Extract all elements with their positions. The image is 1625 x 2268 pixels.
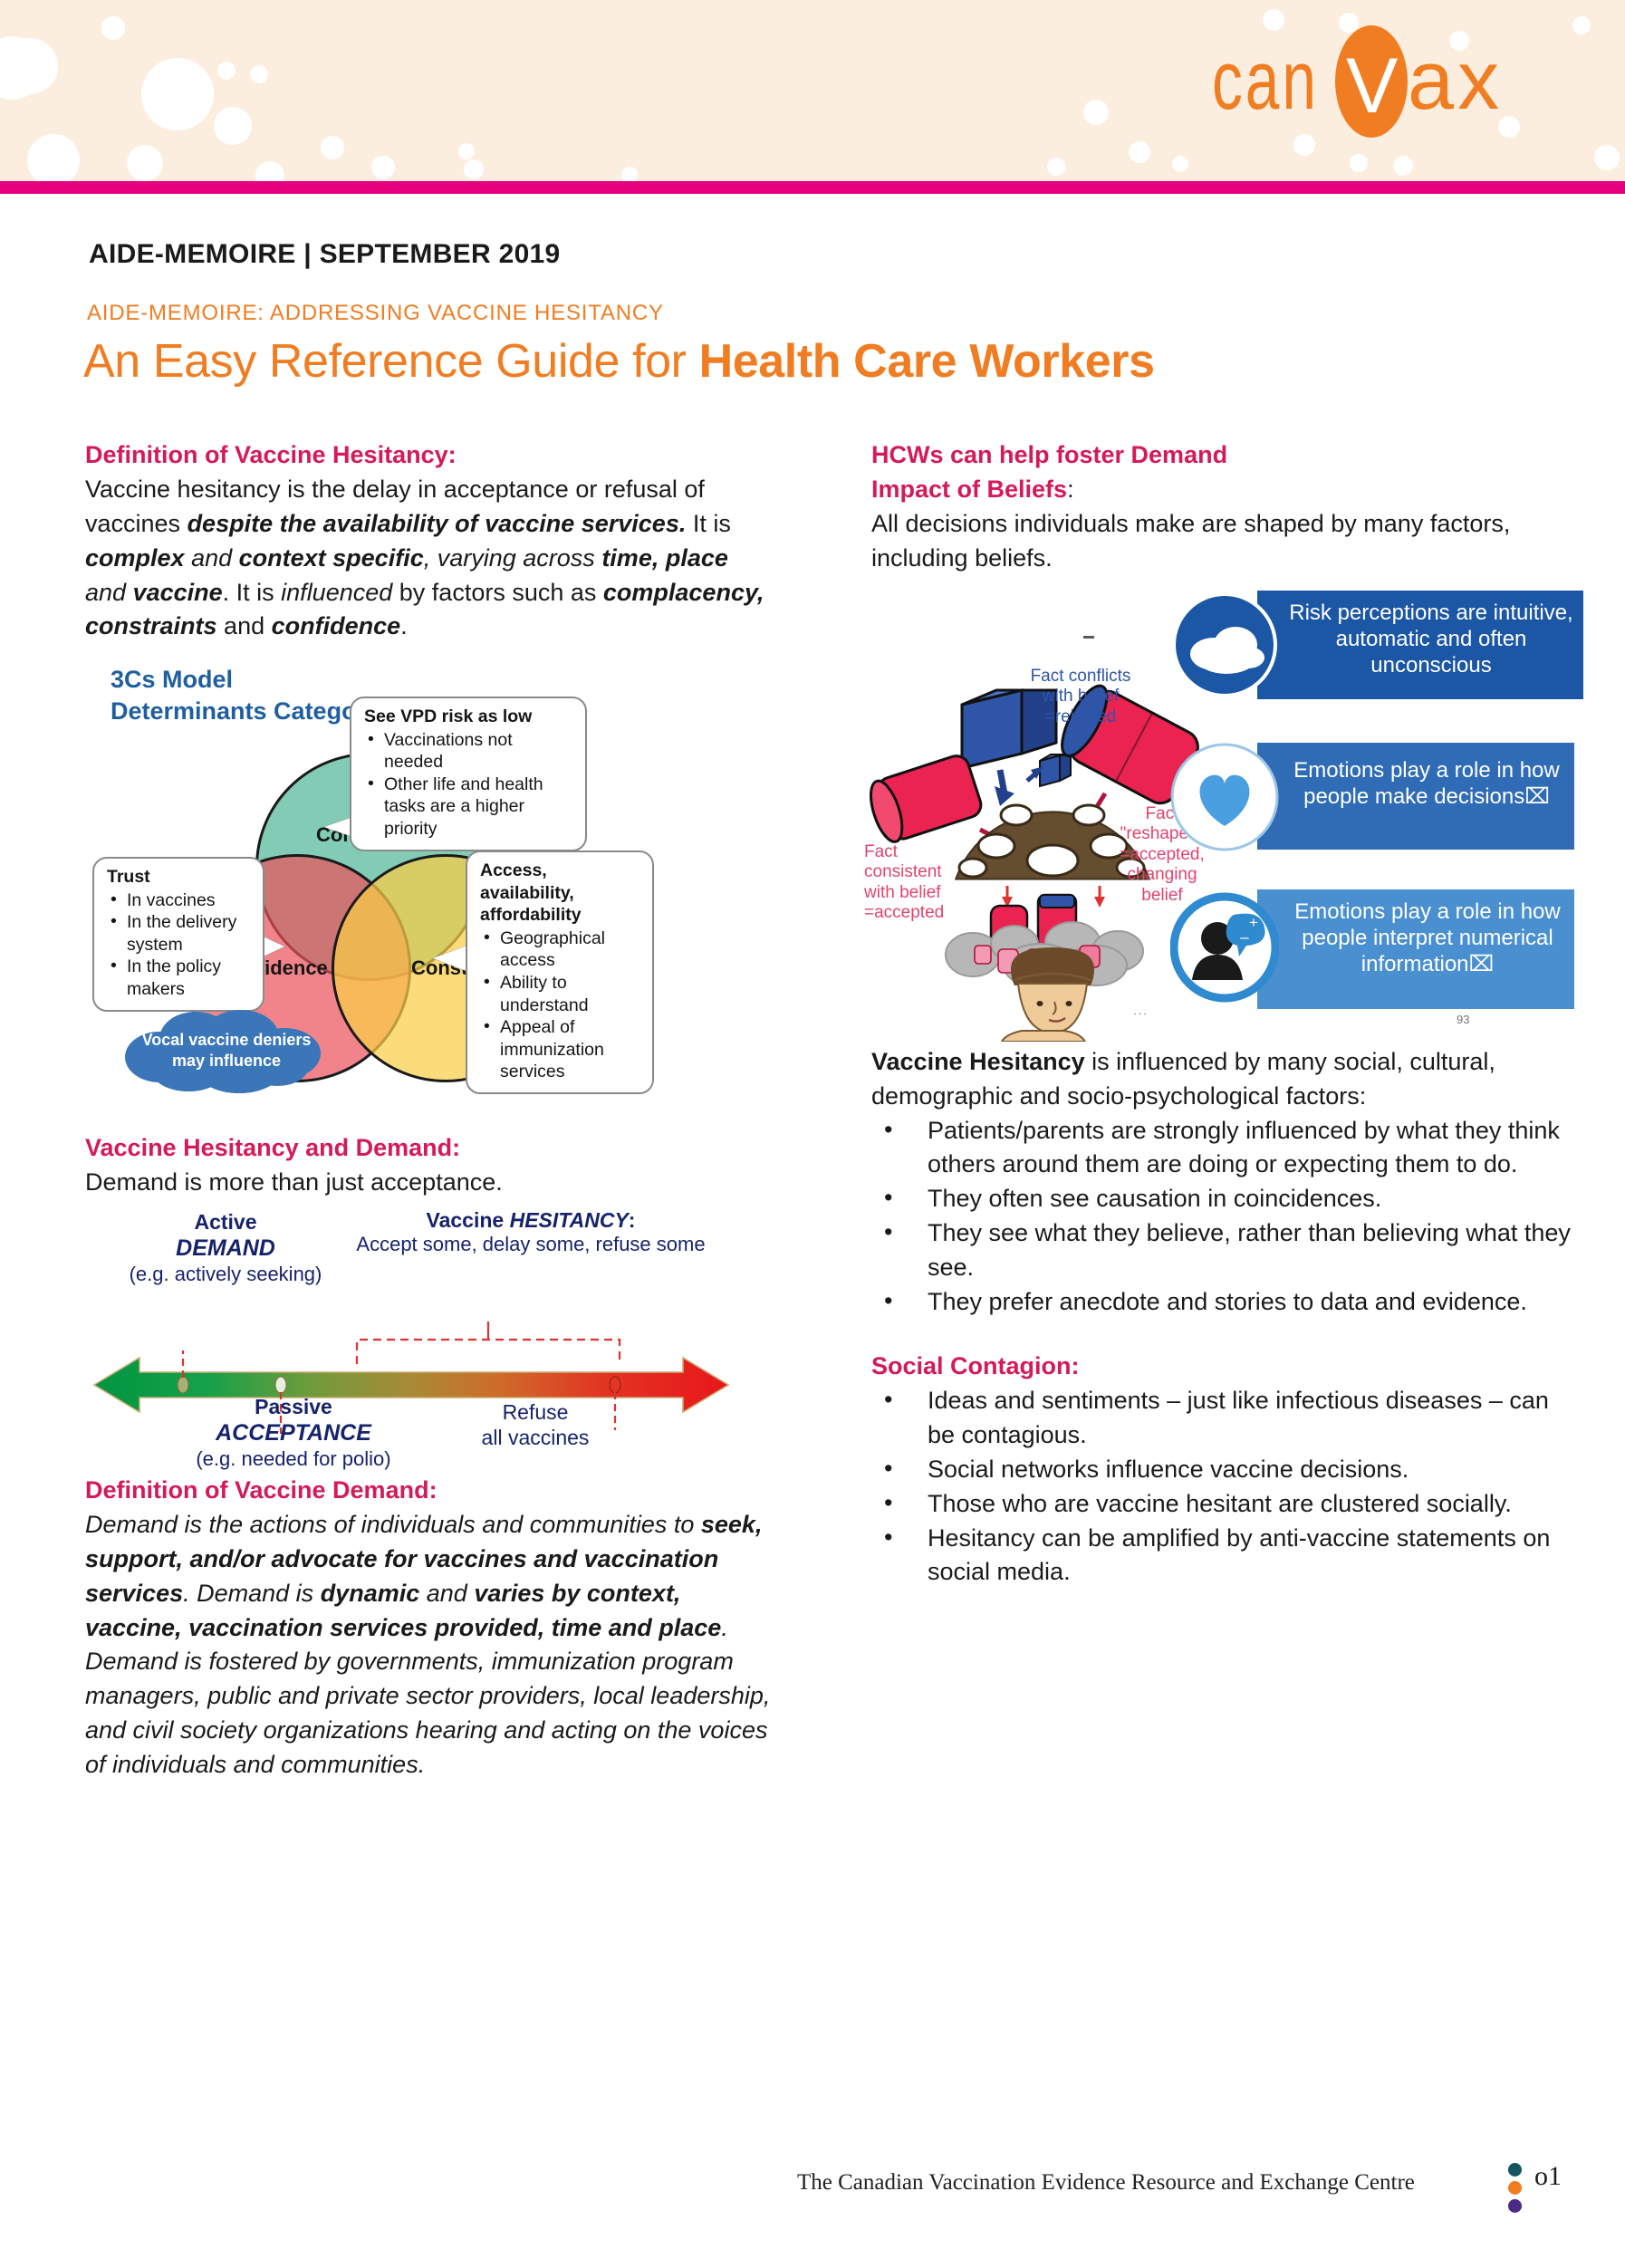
text-factors-intro-bold: Vaccine Hesitancy bbox=[871, 1048, 1085, 1075]
list-factors: Patients/parents are strongly influenced… bbox=[871, 1114, 1578, 1320]
heading-impact-colon: : bbox=[1067, 476, 1074, 503]
canvax-logo: can V ax bbox=[1212, 29, 1592, 138]
callout-vpd-list: Vaccinations not needed Other life and h… bbox=[364, 729, 574, 841]
decorative-bubble bbox=[255, 161, 284, 181]
heart-icon bbox=[1170, 732, 1279, 868]
callout-trust-item: In the policy makers bbox=[107, 956, 252, 1000]
callout-vpd-heading: See VPD risk as low bbox=[364, 706, 574, 728]
spectrum-active-line2: DEMAND bbox=[112, 1235, 339, 1263]
spectrum-hesitancy-line2: Accept some, delay some, refuse some bbox=[341, 1233, 721, 1257]
list-item: Hesitancy can be amplified by anti-vacci… bbox=[871, 1522, 1578, 1590]
dropped-blue-cap bbox=[1040, 895, 1074, 908]
illustration-signature: . . . bbox=[1134, 1006, 1147, 1017]
annotation-fact-conflicts-l3: =rejected bbox=[1004, 707, 1158, 727]
decorative-bubble bbox=[621, 167, 638, 181]
figure-3cs-title-line1: 3Cs Model bbox=[111, 666, 233, 693]
spectrum-active-line1: Active bbox=[112, 1209, 339, 1235]
text-impact-of-beliefs: All decisions individuals make are shape… bbox=[871, 507, 1578, 576]
decorative-bubble bbox=[2, 38, 58, 94]
spectrum-label-active-demand: Active DEMAND (e.g. actively seeking) bbox=[112, 1209, 339, 1286]
spectrum-refuse-line1: Refuse bbox=[422, 1399, 649, 1425]
decorative-bubble bbox=[1172, 156, 1188, 172]
belief-banner-emotions-decisions: Emotions play a role in how people make … bbox=[1170, 732, 1587, 868]
callout-vpd-risk: See VPD risk as low Vaccinations not nee… bbox=[350, 697, 587, 850]
decorative-bubble bbox=[458, 143, 475, 159]
callout-vpd-item: Other life and health tasks are a higher… bbox=[364, 774, 574, 841]
decorative-bubble bbox=[101, 16, 125, 40]
spectrum-active-line3: (e.g. actively seeking) bbox=[112, 1263, 339, 1287]
decorative-bubble bbox=[1083, 100, 1109, 125]
belief-banner-2-text: Emotions play a role in how people make … bbox=[1286, 757, 1567, 811]
decorative-bubble bbox=[141, 58, 214, 130]
footer-dot-teal bbox=[1508, 2163, 1522, 2177]
tick-mark bbox=[1083, 636, 1094, 639]
footer-organization-name: The Canadian Vaccination Evidence Resour… bbox=[797, 2170, 1415, 2196]
decorative-bubble bbox=[127, 145, 163, 181]
canvax-logo-svg: can V ax bbox=[1212, 25, 1592, 141]
logo-text-can: can bbox=[1212, 34, 1319, 127]
cloud-vocal-deniers: Vocal vaccine deniers may influence bbox=[121, 1006, 332, 1093]
spectrum-passive-line3: (e.g. needed for polio) bbox=[176, 1447, 411, 1472]
annotation-fact-conflicts-l1: Fact conflicts bbox=[1004, 667, 1158, 687]
callout-trust-list: In vaccines In the delivery system In th… bbox=[107, 889, 252, 1001]
figure-source-mark: 93 bbox=[1457, 1013, 1469, 1026]
heading-definition-hesitancy: Definition of Vaccine Hesitancy: bbox=[85, 438, 774, 471]
spectrum-refuse-line2: all vaccines bbox=[422, 1425, 649, 1450]
cloud-text: Vocal vaccine deniers may influence bbox=[121, 1030, 332, 1072]
list-item: Those who are vaccine hesitant are clust… bbox=[871, 1487, 1578, 1522]
person-head-illustration bbox=[1002, 947, 1094, 1042]
cloud-icon bbox=[1170, 580, 1279, 716]
spectrum-label-hesitancy: Vaccine HESITANCY: Accept some, delay so… bbox=[341, 1207, 721, 1257]
list-item: They often see causation in coincidences… bbox=[871, 1182, 1578, 1216]
figure-impact-of-beliefs: . . . Fact conflicts with belief =reject… bbox=[871, 589, 1578, 1042]
decorative-bubble bbox=[27, 134, 80, 181]
list-item: Ideas and sentiments – just like infecti… bbox=[871, 1384, 1578, 1453]
callout-trust: Trust In vaccines In the delivery system… bbox=[92, 857, 264, 1011]
callout-access-item: Geographical access bbox=[480, 927, 641, 972]
decorative-bubble bbox=[464, 159, 484, 179]
logo-text-v: V bbox=[1346, 43, 1398, 130]
header-pink-rule bbox=[0, 181, 1625, 194]
list-item: They prefer anecdote and stories to data… bbox=[871, 1285, 1578, 1320]
decorative-bubble bbox=[1129, 141, 1150, 163]
list-item: Patients/parents are strongly influenced… bbox=[871, 1114, 1578, 1183]
callout-access: Access, availability, affordability Geog… bbox=[466, 850, 654, 1094]
belief-banner-emotions-numerical: + – Emotions play a role in how people i… bbox=[1170, 879, 1587, 1033]
footer-dot-cluster bbox=[1508, 2163, 1528, 2217]
spectrum-label-passive-acceptance: Passive ACCEPTANCE (e.g. needed for poli… bbox=[176, 1394, 411, 1471]
footer-page-number: o1 bbox=[1534, 2161, 1562, 2192]
decorative-bubble bbox=[214, 107, 252, 145]
page-title-bold: Health Care Workers bbox=[699, 335, 1155, 388]
figure-3cs-model: 3Cs Model Determinants Categories Compla… bbox=[85, 662, 746, 1124]
annotation-fact-consistent: Fact consistent with belief =accepted bbox=[864, 842, 982, 924]
figure-demand-spectrum: Active DEMAND (e.g. actively seeking) Va… bbox=[85, 1206, 737, 1468]
callout-access-list: Geographical access Ability to understan… bbox=[480, 927, 641, 1083]
spectrum-dot-active bbox=[178, 1377, 188, 1393]
spectrum-passive-line1: Passive bbox=[176, 1394, 411, 1419]
footer-dot-orange bbox=[1508, 2181, 1522, 2195]
cloud-text-line2: may influence bbox=[172, 1052, 281, 1070]
text-hesitancy-demand: Demand is more than just acceptance. bbox=[85, 1166, 774, 1200]
decorative-bubble bbox=[250, 65, 268, 83]
hesitancy-bracket bbox=[357, 1340, 620, 1364]
decorative-bubble bbox=[1350, 154, 1368, 172]
annotation-fact-consistent-l4: =accepted bbox=[864, 903, 982, 923]
spectrum-hesitancy-line1: Vaccine HESITANCY: bbox=[341, 1207, 721, 1233]
decorative-bubble bbox=[1594, 145, 1620, 170]
small-blue-cube-shape bbox=[1040, 754, 1071, 786]
kicker-date: AIDE-MEMOIRE | SEPTEMBER 2019 bbox=[89, 239, 561, 270]
spectrum-dot-passive bbox=[275, 1377, 286, 1393]
annotation-fact-conflicts: Fact conflicts with belief =rejected bbox=[1004, 667, 1158, 727]
page-title-regular: An Easy Reference Guide for bbox=[83, 335, 699, 388]
callout-access-item: Ability to understand bbox=[480, 972, 641, 1016]
spectrum-hesitancy-emph: HESITANCY bbox=[510, 1208, 629, 1232]
heading-hcws-foster-demand: HCWs can help foster Demand bbox=[871, 438, 1578, 471]
eyebrow-label: AIDE-MEMOIRE: ADDRESSING VACCINE HESITAN… bbox=[87, 301, 664, 326]
heading-social-contagion: Social Contagion: bbox=[871, 1350, 1578, 1382]
text-definition-hesitancy: Vaccine hesitancy is the delay in accept… bbox=[85, 473, 774, 644]
annotation-fact-consistent-l3: with belief bbox=[864, 883, 982, 903]
footer-dot-purple bbox=[1508, 2199, 1522, 2213]
list-social-contagion: Ideas and sentiments – just like infecti… bbox=[871, 1384, 1578, 1590]
page-title: An Easy Reference Guide for Health Care … bbox=[83, 334, 1155, 389]
heading-impact-of-beliefs-text: Impact of Beliefs bbox=[871, 476, 1067, 503]
text-definition-demand: Demand is the actions of individuals and… bbox=[85, 1508, 774, 1782]
spectrum-dot-refuse bbox=[610, 1377, 620, 1393]
callout-trust-item: In vaccines bbox=[107, 889, 252, 912]
list-item: Social networks influence vaccine decisi… bbox=[871, 1453, 1578, 1487]
callout-vpd-item: Vaccinations not needed bbox=[364, 729, 574, 774]
heading-hesitancy-demand: Vaccine Hesitancy and Demand: bbox=[85, 1131, 774, 1164]
callout-access-item: Appeal of immunization services bbox=[480, 1016, 641, 1083]
spectrum-passive-line2: ACCEPTANCE bbox=[176, 1419, 411, 1447]
decorative-bubble bbox=[1393, 156, 1413, 176]
heading-definition-demand: Definition of Vaccine Demand: bbox=[85, 1474, 774, 1506]
callout-tail-access bbox=[433, 945, 469, 972]
belief-banner-risk-perceptions: Risk perceptions are intuitive, automati… bbox=[1170, 580, 1587, 716]
header-banner: can V ax bbox=[0, 0, 1625, 181]
callout-trust-item: In the delivery system bbox=[107, 911, 252, 956]
belief-banner-1-text: Risk perceptions are intuitive, automati… bbox=[1288, 600, 1574, 679]
spectrum-hesitancy-suffix: : bbox=[629, 1208, 636, 1232]
annotation-fact-conflicts-l2: with belief bbox=[1004, 687, 1158, 706]
cloud-text-line1: Vocal vaccine deniers bbox=[142, 1031, 312, 1049]
svg-text:–: – bbox=[1240, 928, 1249, 946]
belief-banner-3-text: Emotions play a role in how people inter… bbox=[1286, 899, 1569, 978]
person-speech-icon: + – bbox=[1170, 879, 1279, 1023]
svg-text:+: + bbox=[1249, 914, 1258, 931]
callout-access-heading: Access, availability, affordability bbox=[480, 860, 641, 927]
right-column: HCWs can help foster Demand Impact of Be… bbox=[871, 438, 1578, 1590]
annotation-fact-consistent-l1: Fact bbox=[864, 842, 982, 862]
decorative-bubble bbox=[1047, 158, 1065, 176]
spectrum-hesitancy-prefix: Vaccine bbox=[427, 1208, 510, 1232]
decorative-bubble bbox=[217, 62, 236, 80]
left-column: Definition of Vaccine Hesitancy: Vaccine… bbox=[85, 438, 774, 1783]
annotation-fact-consistent-l2: consistent bbox=[864, 862, 982, 882]
document-body: AIDE-MEMOIRE | SEPTEMBER 2019 AIDE-MEMOI… bbox=[0, 194, 1625, 2102]
text-factors-intro: Vaccine Hesitancy is influenced by many … bbox=[871, 1045, 1578, 1114]
list-item: They see what they believe, rather than … bbox=[871, 1216, 1578, 1285]
decorative-bubble bbox=[371, 156, 395, 179]
heading-impact-of-beliefs: Impact of Beliefs: bbox=[871, 473, 1578, 505]
red-cylinder-shape bbox=[865, 753, 985, 845]
page-footer: The Canadian Vaccination Evidence Resour… bbox=[0, 2159, 1625, 2268]
decorative-bubble bbox=[321, 136, 344, 159]
logo-text-ax: ax bbox=[1408, 34, 1503, 127]
callout-trust-heading: Trust bbox=[107, 866, 252, 889]
spectrum-label-refuse: Refuse all vaccines bbox=[422, 1399, 649, 1450]
